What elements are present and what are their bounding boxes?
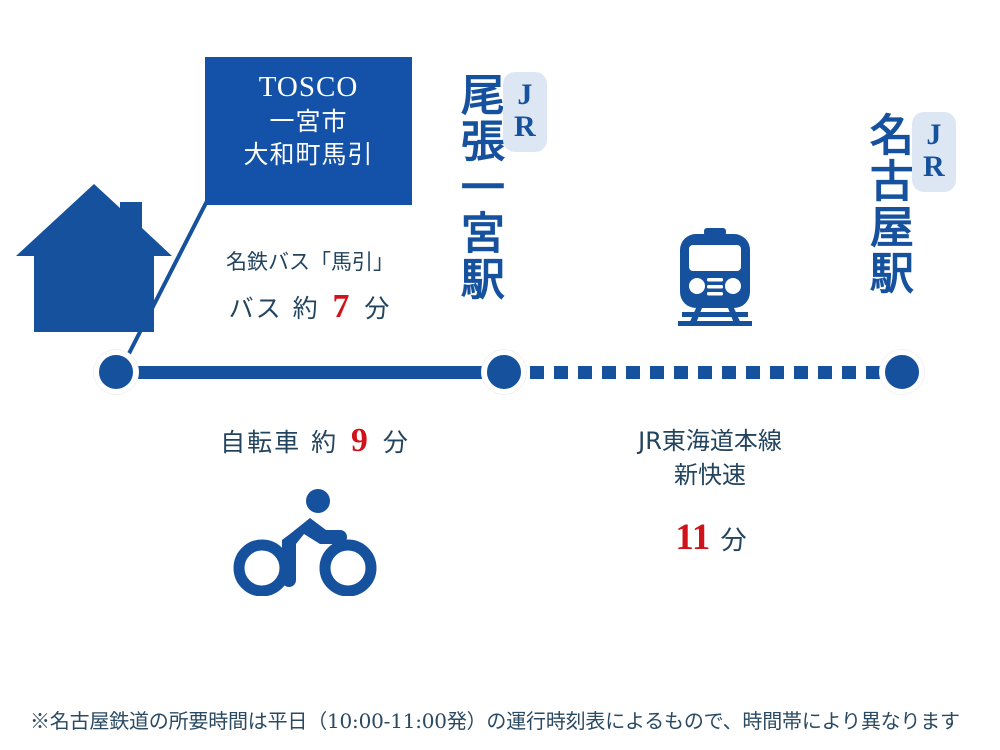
train-icon [672, 228, 758, 326]
jr-badge-nagoya: J R [912, 112, 956, 192]
jr-badge-letter-j: J [503, 79, 547, 111]
bicycle-mode-label: 自転車 [220, 428, 301, 457]
train-line-info: JR東海道本線 新快速 [600, 424, 820, 492]
train-minutes: 11 [673, 516, 712, 557]
train-service-type: 新快速 [600, 458, 820, 492]
bus-minutes: 7 [330, 288, 355, 325]
callout-title: TOSCO [205, 69, 412, 105]
jr-badge-letter-r: R [503, 111, 547, 143]
bicycle-minutes: 9 [348, 422, 373, 459]
bicycle-approx-label: 約 [311, 428, 338, 457]
route-node-owari-ichinomiya [482, 350, 526, 394]
bus-duration: バス 約 7 分 [190, 288, 430, 326]
bus-mode-label: バス [229, 294, 283, 323]
station-name-owari-ichinomiya: 尾張一宮駅 [455, 72, 500, 302]
route-node-home [94, 350, 138, 394]
train-duration: 11 分 [600, 515, 820, 558]
train-line-name: JR東海道本線 [600, 424, 820, 458]
jr-badge-letter-j: J [912, 119, 956, 151]
bicycle-duration: 自転車 約 9 分 [185, 422, 445, 460]
bicycle-unit: 分 [383, 428, 410, 457]
station-label-nagoya: J R 名古屋駅 [864, 112, 956, 296]
station-label-owari-ichinomiya: J R 尾張一宮駅 [455, 72, 547, 302]
access-diagram: TOSCO 一宮市 大和町馬引 J R 尾張一宮駅 J R 名古屋駅 名鉄バス「… [0, 0, 1000, 750]
footnote: ※名古屋鉄道の所要時間は平日（10:00-11:00発）の運行時刻表によるもので… [30, 705, 975, 734]
train-unit: 分 [721, 526, 747, 556]
route-line-bus-bike [128, 366, 500, 379]
tosco-callout-box: TOSCO 一宮市 大和町馬引 [205, 57, 412, 205]
jr-badge-owari-ichinomiya: J R [503, 72, 547, 152]
bicycle-icon [232, 488, 380, 596]
callout-line-1: 一宮市 [205, 105, 412, 138]
route-line-train [530, 366, 900, 379]
bus-stop-label: 名鉄バス「馬引」 [190, 246, 430, 276]
route-node-nagoya [880, 350, 924, 394]
bus-unit: 分 [364, 294, 391, 323]
callout-line-2: 大和町馬引 [205, 138, 412, 171]
jr-badge-letter-r: R [912, 151, 956, 183]
station-name-nagoya: 名古屋駅 [864, 112, 909, 296]
house-icon [16, 180, 176, 335]
bus-approx-label: 約 [293, 294, 320, 323]
